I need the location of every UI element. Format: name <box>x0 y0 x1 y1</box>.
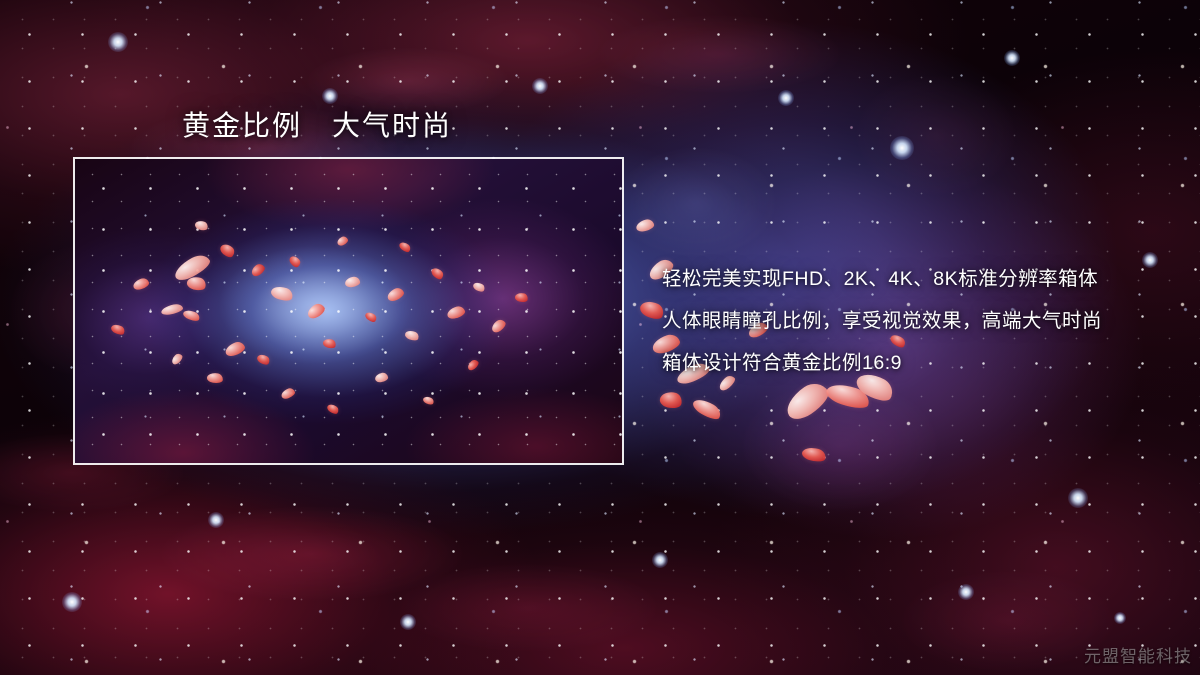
bright-star <box>108 32 128 52</box>
bright-star <box>532 78 548 94</box>
bright-star <box>1068 488 1088 508</box>
rose-petal <box>182 308 201 323</box>
rose-petal <box>326 402 340 415</box>
bright-star <box>890 136 914 160</box>
rose-petal <box>374 372 388 383</box>
rose-petal <box>635 218 655 233</box>
rose-petal <box>430 266 446 282</box>
rose-petal <box>270 284 295 303</box>
petals-inside-frame <box>75 159 622 463</box>
rose-petal <box>659 390 684 410</box>
framed-photo-content <box>75 159 622 463</box>
bright-star <box>322 88 338 104</box>
rose-petal <box>404 329 420 342</box>
rose-petal <box>385 286 405 303</box>
rose-petal <box>171 251 213 284</box>
bright-star <box>1114 612 1126 624</box>
bright-star <box>652 552 668 568</box>
slide-canvas: 黄金比例 大气时尚 轻松完美实现FHD、2K、4K、8K标准分辨率箱体 人体眼睛… <box>0 0 1200 675</box>
rose-petal <box>466 358 480 372</box>
page-title: 黄金比例 大气时尚 <box>182 104 452 144</box>
rose-petal <box>288 254 302 269</box>
rose-petal <box>170 352 184 366</box>
bright-star <box>958 584 974 600</box>
rose-petal <box>824 380 872 413</box>
body-line-2: 人体眼睛瞳孔比例，享受视觉效果，高端大气时尚 <box>662 300 1102 342</box>
bright-star <box>1142 252 1158 268</box>
bright-star <box>778 90 794 106</box>
rose-petal <box>249 262 266 278</box>
bright-star <box>62 592 82 612</box>
rose-petal <box>398 240 412 254</box>
rose-petal <box>781 377 834 424</box>
rose-petal <box>344 276 360 288</box>
rose-petal <box>364 310 378 324</box>
rose-petal <box>446 305 466 321</box>
bright-star <box>1004 50 1020 66</box>
rose-petal <box>322 337 337 349</box>
rose-petal <box>422 395 435 406</box>
body-text-block: 轻松完美实现FHD、2K、4K、8K标准分辨率箱体 人体眼睛瞳孔比例，享受视觉效… <box>662 258 1102 384</box>
rose-petal <box>801 445 827 463</box>
rose-petal <box>194 219 209 232</box>
bright-star <box>208 512 224 528</box>
rose-petal <box>489 318 507 335</box>
rose-petal <box>110 322 127 336</box>
bright-star <box>400 614 416 630</box>
rose-petal <box>280 387 296 401</box>
rose-petal <box>206 372 223 384</box>
framed-photo-panel <box>73 157 624 465</box>
rose-petal <box>224 340 247 358</box>
rose-petal <box>336 235 349 247</box>
rose-petal <box>305 301 327 320</box>
rose-petal <box>160 303 183 316</box>
watermark: 元盟智能科技 <box>1084 642 1192 667</box>
rose-petal <box>256 352 272 366</box>
body-line-1: 轻松完美实现FHD、2K、4K、8K标准分辨率箱体 <box>662 258 1102 300</box>
rose-petal <box>218 241 237 259</box>
body-line-3: 箱体设计符合黄金比例16:9 <box>662 342 1102 384</box>
rose-petal <box>691 395 724 422</box>
rose-petal <box>132 277 150 291</box>
rose-petal <box>514 292 529 304</box>
rose-petal <box>186 275 208 292</box>
rose-petal <box>472 281 486 294</box>
